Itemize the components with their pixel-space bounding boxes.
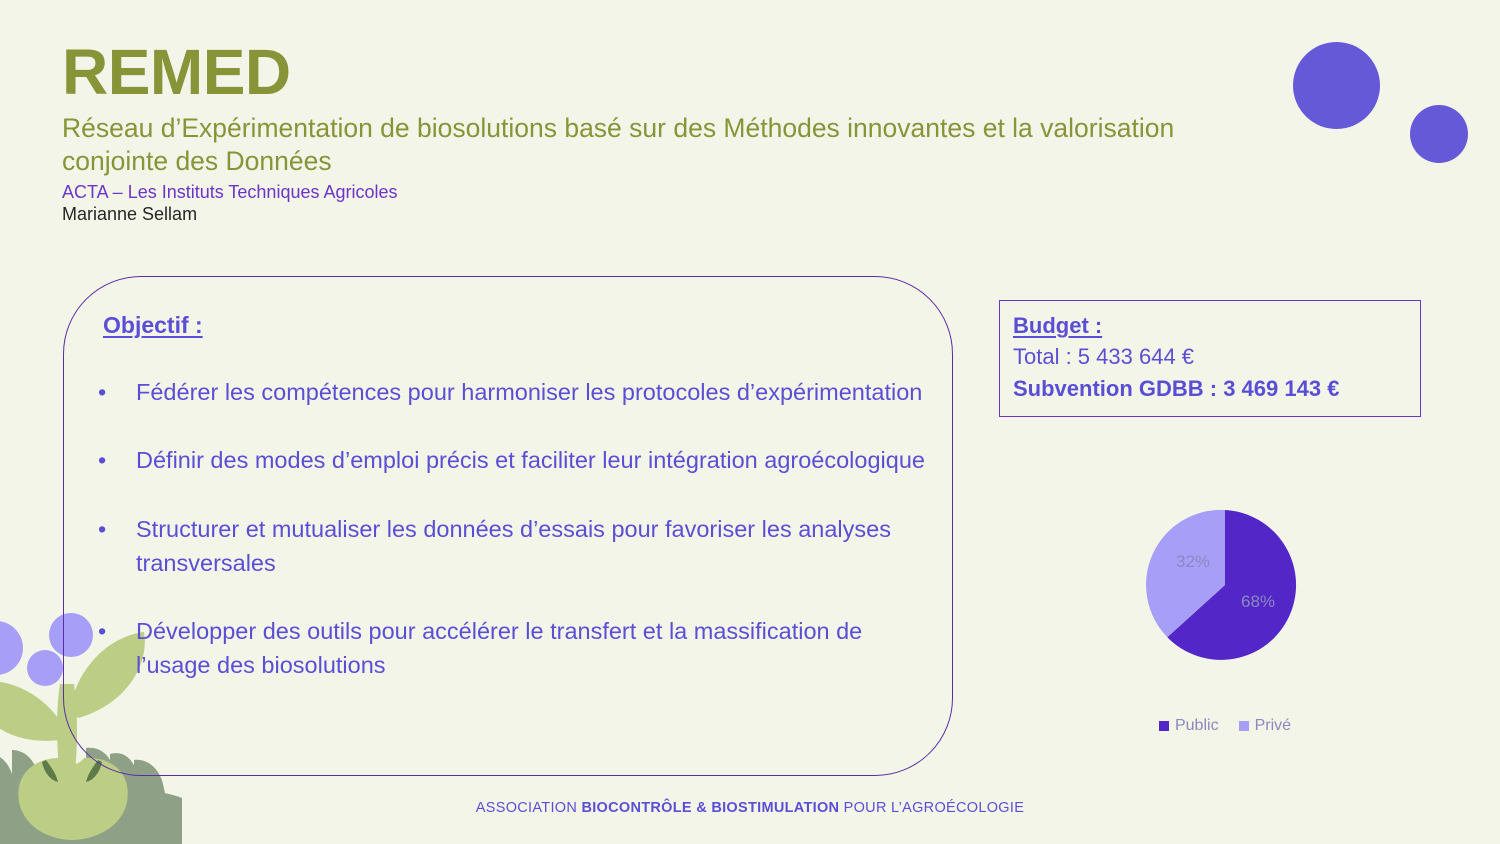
project-subtitle: Réseau d’Expérimentation de biosolutions… [62,112,1207,178]
bullet-icon: • [98,614,136,648]
list-item-text: Fédérer les compétences pour harmoniser … [136,375,928,409]
slide-canvas: REMED Réseau d’Expérimentation de biosol… [0,0,1500,844]
legend-swatch-icon [1159,721,1169,731]
list-item-text: Définir des modes d’emploi précis et fac… [136,443,928,477]
list-item: • Structurer et mutualiser les données d… [98,512,928,581]
legend-entry-prive: Privé [1239,717,1291,735]
legend-entry-public: Public [1159,717,1219,735]
bullet-icon: • [98,512,136,546]
budget-title: Budget : [1013,311,1420,341]
pie-chart-svg: 68% 32% [1145,505,1305,665]
page-title: REMED [62,40,1262,104]
objective-title: Objectif : [103,312,203,339]
legend-label-public: Public [1175,717,1219,735]
pie-label-prive: 32% [1176,552,1210,571]
bullet-icon: • [98,443,136,477]
legend-label-prive: Privé [1255,717,1291,735]
deco-dot-icon [0,621,23,675]
decorative-circle-large [1293,42,1380,129]
pie-label-public: 68% [1241,592,1275,611]
list-item: • Fédérer les compétences pour harmonise… [98,375,928,409]
organization-name: ACTA – Les Instituts Techniques Agricole… [62,181,1262,204]
budget-panel: Budget : Total : 5 433 644 € Subvention … [999,300,1421,417]
author-name: Marianne Sellam [62,203,1262,226]
list-item: • Définir des modes d’emploi précis et f… [98,443,928,477]
funding-pie-chart: 68% 32% Public Privé [1100,505,1350,735]
list-item-text: Développer des outils pour accélérer le … [136,614,928,683]
deco-dot-icon [27,650,63,686]
objective-list: • Fédérer les compétences pour harmonise… [98,375,928,683]
footer-suffix: POUR L’AGROÉCOLOGIE [839,800,1024,816]
bullet-icon: • [98,375,136,409]
objective-panel: Objectif : • Fédérer les compétences pou… [63,276,953,776]
list-item: • Développer des outils pour accélérer l… [98,614,928,683]
legend-swatch-icon [1239,721,1249,731]
budget-subvention-value: Subvention GDBB : 3 469 143 € [1013,373,1420,405]
footer-prefix: ASSOCIATION [476,800,582,816]
pie-chart-area: 68% 32% [1100,505,1350,695]
footer-bold: BIOCONTRÔLE & BIOSTIMULATION [581,800,839,816]
budget-total-value: Total : 5 433 644 € [1013,341,1420,373]
pie-legend: Public Privé [1100,717,1350,735]
slide-header: REMED Réseau d’Expérimentation de biosol… [62,40,1262,227]
decorative-circle-small [1410,105,1468,163]
list-item-text: Structurer et mutualiser les données d’e… [136,512,928,581]
slide-footer: ASSOCIATION BIOCONTRÔLE & BIOSTIMULATION… [0,800,1500,816]
